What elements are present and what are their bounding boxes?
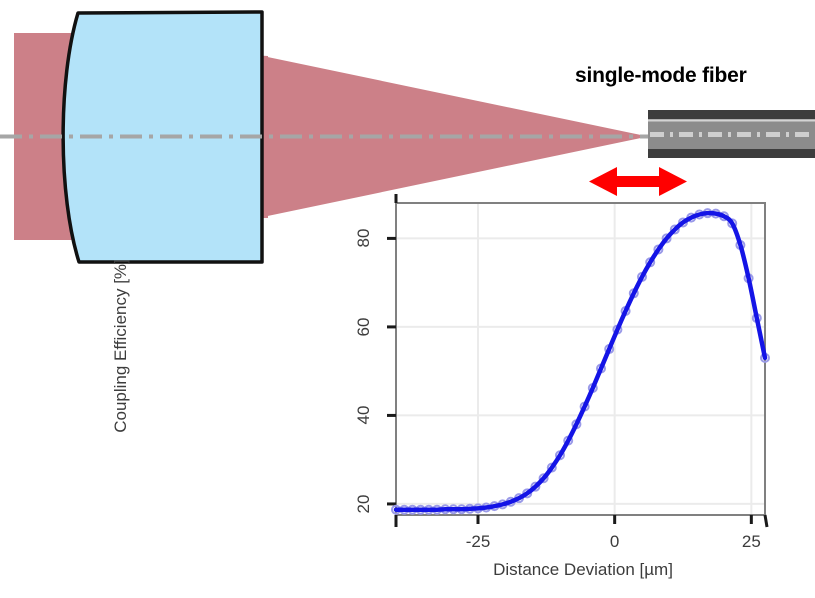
x-tick-label: 0 (585, 532, 645, 552)
y-tick-label: 20 (354, 484, 374, 524)
y-axis-title: Coupling Efficiency [%] (111, 191, 131, 501)
x-tick-label: 25 (721, 532, 781, 552)
x-tick-label: -25 (448, 532, 508, 552)
x-axis-title: Distance Deviation [µm] (398, 560, 768, 580)
y-tick-label: 60 (354, 307, 374, 347)
y-tick-label: 80 (354, 218, 374, 258)
figure-canvas: single-mode fiber Distance Deviation [µm… (0, 0, 815, 598)
y-tick-label: 40 (354, 395, 374, 435)
plot-background (396, 203, 765, 515)
